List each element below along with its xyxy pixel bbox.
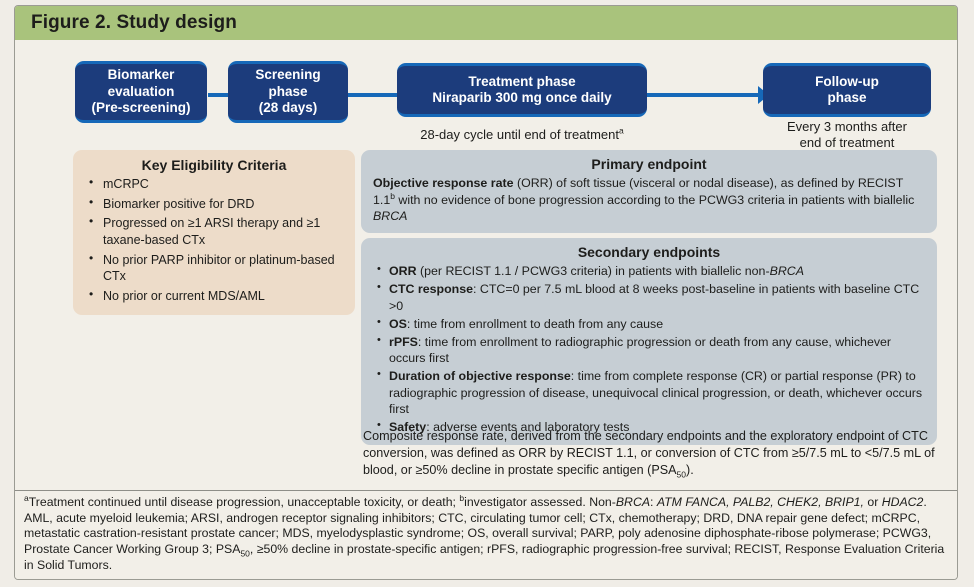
connector-treatment-to-followup — [645, 93, 760, 97]
list-item: ORR (per RECIST 1.1 / PCWG3 criteria) in… — [373, 263, 925, 280]
flow-node-follow-up-phase[interactable]: Follow-up phase — [763, 63, 931, 117]
flow-node-treatment-phase[interactable]: Treatment phase Niraparib 300 mg once da… — [397, 63, 647, 117]
list-item: mCRPC — [83, 176, 345, 193]
flow-node-label: Follow-up phase — [815, 74, 879, 107]
list-item: rPFS: time from enrollment to radiograph… — [373, 334, 925, 367]
primary-endpoint-title: Primary endpoint — [373, 156, 925, 172]
flow-node-screening-phase[interactable]: Screening phase (28 days) — [228, 61, 348, 123]
figure-title: Figure 2. Study design — [31, 12, 237, 34]
flow-node-label: Screening phase (28 days) — [255, 67, 320, 116]
secondary-endpoints-list: ORR (per RECIST 1.1 / PCWG3 criteria) in… — [373, 263, 925, 436]
panel-key-eligibility-criteria: Key Eligibility Criteria mCRPC Biomarker… — [73, 150, 355, 315]
flow-node-label: Biomarker evaluation (Pre-screening) — [91, 67, 190, 116]
list-item: OS: time from enrollment to death from a… — [373, 316, 925, 333]
caption-followup-schedule: Every 3 months after end of treatment — [755, 119, 939, 152]
flow-node-label: Treatment phase Niraparib 300 mg once da… — [432, 74, 611, 107]
panel-primary-endpoint: Primary endpoint Objective response rate… — [361, 150, 937, 233]
figure-footnotes: aTreatment continued until disease progr… — [15, 490, 957, 579]
figure-container: Figure 2. Study design Biomarker evaluat… — [14, 5, 958, 580]
list-item: Progressed on ≥1 ARSI therapy and ≥1 tax… — [83, 215, 345, 248]
list-item: Biomarker positive for DRD — [83, 196, 345, 213]
list-item: No prior or current MDS/AML — [83, 288, 345, 305]
list-item: Duration of objective response: time fro… — [373, 368, 925, 418]
composite-response-rate-note: Composite response rate, derived from th… — [363, 428, 943, 479]
figure-header: Figure 2. Study design — [15, 6, 957, 40]
list-item: No prior PARP inhibitor or platinum-base… — [83, 252, 345, 285]
eligibility-title: Key Eligibility Criteria — [83, 157, 345, 173]
psa-subscript: 50 — [677, 470, 686, 480]
primary-endpoint-text: Objective response rate (ORR) of soft ti… — [373, 175, 925, 225]
flow-node-biomarker-evaluation[interactable]: Biomarker evaluation (Pre-screening) — [75, 61, 207, 123]
footnote-marker-a: a — [619, 126, 624, 136]
secondary-endpoints-title: Secondary endpoints — [373, 244, 925, 260]
caption-treatment-cycle: 28-day cycle until end of treatmenta — [397, 127, 647, 143]
eligibility-list: mCRPC Biomarker positive for DRD Progres… — [83, 176, 345, 304]
study-flow-diagram: Biomarker evaluation (Pre-screening) Scr… — [15, 45, 957, 150]
psa-subscript: 50 — [240, 549, 249, 559]
list-item: CTC response: CTC=0 per 7.5 mL blood at … — [373, 281, 925, 314]
panel-secondary-endpoints: Secondary endpoints ORR (per RECIST 1.1 … — [361, 238, 937, 445]
